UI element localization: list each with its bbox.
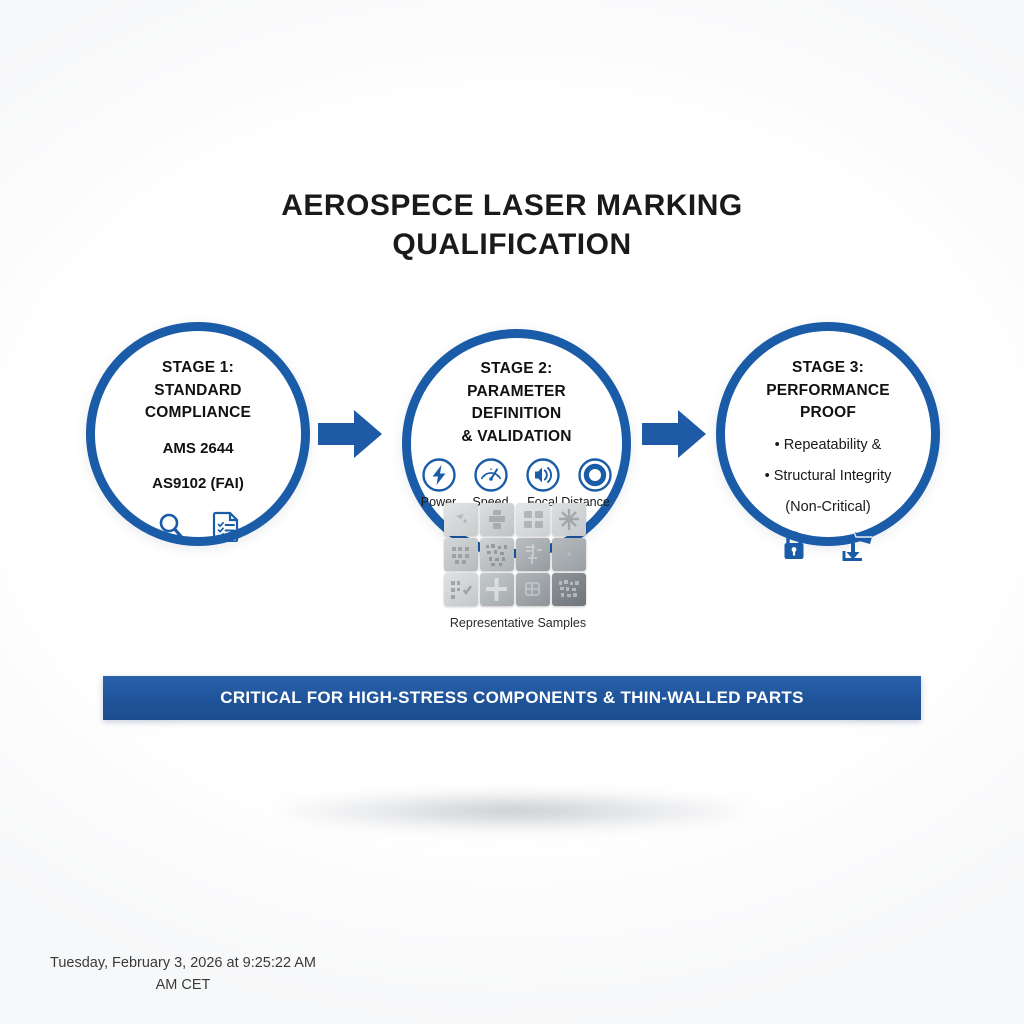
sample-tile: [444, 503, 478, 536]
sample-tile: [444, 573, 478, 606]
representative-samples-group: Representative Samples: [444, 503, 592, 630]
stage-3-heading-line-2: PERFORMANCE: [766, 380, 890, 403]
sample-tile: [480, 538, 514, 571]
arrow-stage-2-to-3-icon: [642, 406, 708, 462]
ground-shadow: [282, 792, 748, 830]
stage-3-circle[interactable]: STAGE 3: PERFORMANCE PROOF • Repeatabili…: [716, 322, 940, 546]
lock-icon: [780, 530, 808, 567]
sample-tile: [480, 503, 514, 536]
sample-tile: [552, 503, 586, 536]
sample-tile: [552, 538, 586, 571]
parameter-icon-row: [419, 457, 615, 493]
checklist-document-icon: [212, 511, 240, 547]
stage-1-heading-line-1: STAGE 1:: [162, 357, 234, 380]
sample-tile-grid: [444, 503, 592, 606]
lightning-bolt-icon: [419, 457, 459, 493]
load-into-tray-icon: [842, 530, 876, 567]
stage-3-heading-line-3: PROOF: [800, 402, 856, 425]
signal-waves-icon: [523, 457, 563, 493]
critical-note-banner-text: CRITICAL FOR HIGH-STRESS COMPONENTS & TH…: [220, 688, 803, 708]
sample-tile: [480, 573, 514, 606]
stage-3-bullet-1: • Repeatability &: [775, 435, 882, 456]
sample-tile: [444, 538, 478, 571]
stage-1-circle[interactable]: STAGE 1: STANDARD COMPLIANCE AMS 2644 AS…: [86, 322, 310, 546]
focus-ring-icon: [575, 457, 615, 493]
page-title: AEROSPECE LASER MARKING QUALIFICATION: [0, 186, 1024, 264]
sample-tile: [516, 573, 550, 606]
stage-3-bullet-2: • Structural Integrity: [765, 466, 892, 487]
stage-3-heading-line-1: STAGE 3:: [792, 357, 864, 380]
infographic-canvas: AEROSPECE LASER MARKING QUALIFICATION ST…: [0, 0, 1024, 1024]
timestamp-line-1: Tuesday, February 3, 2026 at 9:25:22 AM: [50, 955, 316, 971]
stage-2-heading-line-3: DEFINITION: [472, 403, 562, 426]
timestamp-line-2: AM CET: [36, 974, 330, 996]
stage-1-detail-1: AMS 2644: [163, 437, 234, 460]
arrow-stage-1-to-2-icon: [318, 406, 384, 462]
stage-1-heading-line-3: COMPLIANCE: [145, 402, 251, 425]
critical-note-banner: CRITICAL FOR HIGH-STRESS COMPONENTS & TH…: [103, 676, 921, 720]
representative-samples-caption: Representative Samples: [420, 616, 616, 630]
gauge-icon: [471, 457, 511, 493]
page-title-line-1: AEROSPECE LASER MARKING: [0, 186, 1024, 225]
stage-3-bullet-3: (Non-Critical): [785, 497, 870, 518]
stage-2-heading-line-2: PARAMETER: [467, 381, 566, 404]
stage-2-heading-line-1: STAGE 2:: [481, 358, 553, 381]
stage-1-heading-line-2: STANDARD: [154, 380, 241, 403]
magnifier-icon: [156, 511, 186, 546]
sample-tile: [516, 538, 550, 571]
timestamp: Tuesday, February 3, 2026 at 9:25:22 AM …: [36, 952, 330, 996]
stage-1-detail-2: AS9102 (FAI): [152, 472, 244, 495]
sample-tile: [516, 503, 550, 536]
sample-tile: [552, 573, 586, 606]
page-title-line-2: QUALIFICATION: [0, 225, 1024, 264]
stage-2-heading-line-4: & VALIDATION: [461, 426, 571, 449]
